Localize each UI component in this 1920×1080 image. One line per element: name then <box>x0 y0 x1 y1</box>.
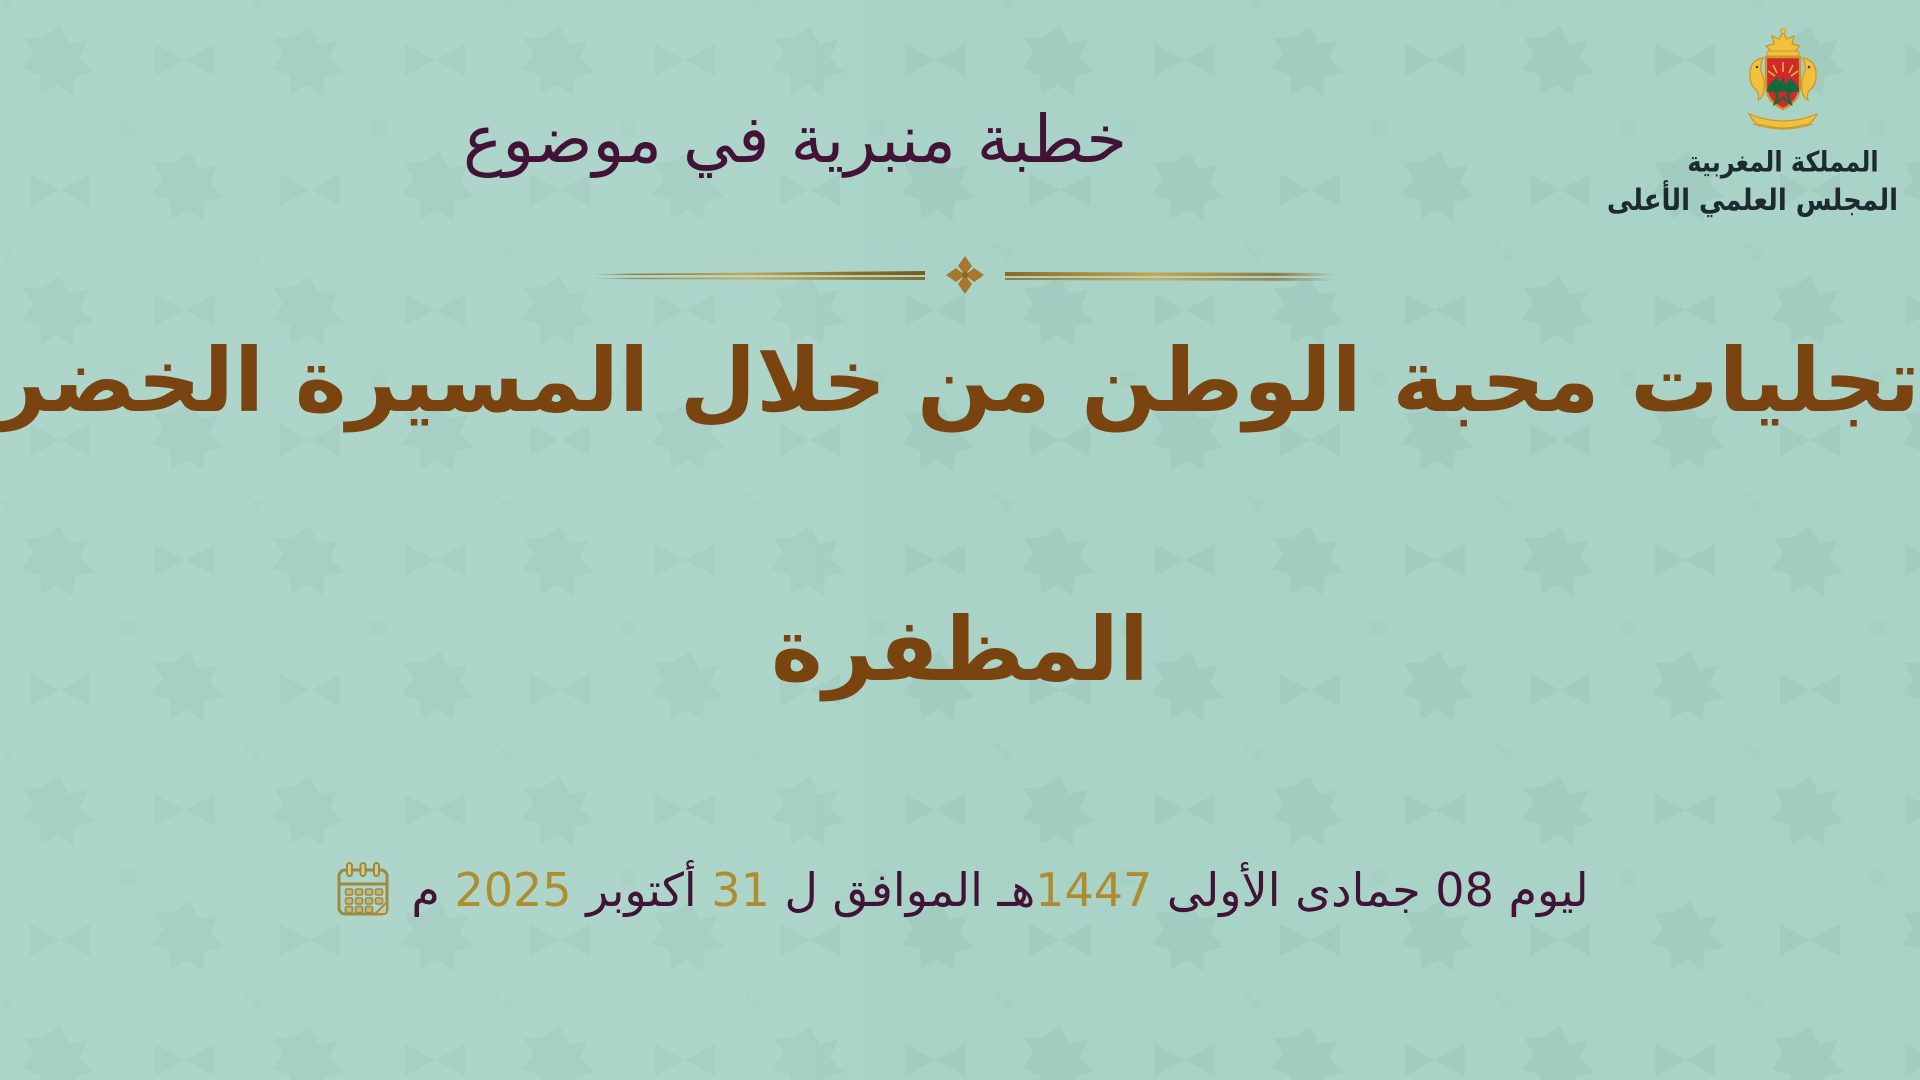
gregorian-suffix: م <box>411 863 439 917</box>
gregorian-month: أكتوبر <box>586 863 697 917</box>
date-strip: ليوم 08 جمادى الأولى 1447هـ الموافق ل 31… <box>0 858 1920 922</box>
date-prefix: ليوم <box>1508 863 1588 917</box>
gregorian-day: 31 <box>711 863 770 917</box>
ornamental-divider <box>595 252 1335 298</box>
moroccan-coat-of-arms-icon <box>1723 26 1843 146</box>
slide-kicker: خطبة منبرية في موضوع <box>0 104 1590 177</box>
date-connector: الموافق ل <box>785 863 983 917</box>
sermon-title-line-2: المظفرة <box>0 599 1920 700</box>
emblem-council-line: المجلس العلمي الأعلى <box>1668 184 1898 219</box>
sermon-title: تجليات محبة الوطن من خلال المسيرة الخضرا… <box>0 330 1920 700</box>
hijri-day: 08 <box>1435 863 1494 917</box>
sermon-title-slide: المملكة المغربية المجلس العلمي الأعلى خط… <box>0 0 1920 1080</box>
gregorian-year: 2025 <box>455 863 572 917</box>
date-text: ليوم 08 جمادى الأولى 1447هـ الموافق ل 31… <box>411 863 1588 917</box>
institution-emblem: المملكة المغربية المجلس العلمي الأعلى <box>1668 26 1898 226</box>
emblem-kingdom-line: المملكة المغربية <box>1668 145 1898 178</box>
sermon-title-line-1: تجليات محبة الوطن من خلال المسيرة الخضرا… <box>0 330 1920 431</box>
calendar-icon <box>331 858 395 922</box>
hijri-month: جمادى الأولى <box>1167 863 1421 917</box>
hijri-year: 1447 <box>1035 863 1152 917</box>
hijri-suffix: هـ <box>997 863 1035 917</box>
quatrefoil-ornament-icon <box>595 252 1335 298</box>
